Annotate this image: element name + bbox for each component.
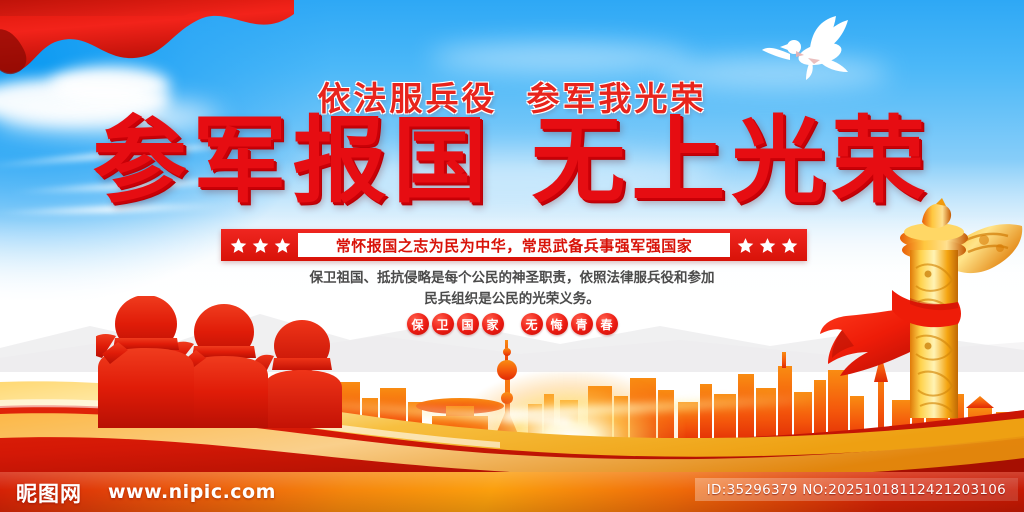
stars-left [230, 237, 291, 254]
star-icon [759, 237, 776, 254]
footer-id-text: ID:35296379 NO:20251018112421203106 [695, 478, 1018, 501]
star-icon [252, 237, 269, 254]
badge-spacer [507, 324, 518, 325]
slogan-text: 常怀报国之志为民为中华，常思武备兵事强军强国家 [298, 233, 730, 257]
paragraph-line-2: 民兵组织是公民的光荣义务。 [262, 289, 762, 310]
badge-item: 青 [571, 313, 593, 335]
star-icon [737, 237, 754, 254]
poster-canvas: 依法服兵役 参军我光荣 参军报国 无上光荣 常怀报国之志为民为中华，常思武备兵事… [0, 0, 1024, 512]
slogan-banner: 常怀报国之志为民为中华，常思武备兵事强军强国家 [221, 229, 807, 261]
footer-bar: 昵图网 www.nipic.com ID:35296379 NO:2025101… [0, 472, 1024, 512]
golden-huabiao-column-icon [892, 198, 1024, 418]
poster-paragraph: 保卫祖国、抵抗侵略是每个公民的神圣职责，依照法律服兵役和参加 民兵组织是公民的光… [262, 268, 762, 310]
paragraph-line-1: 保卫祖国、抵抗侵略是每个公民的神圣职责，依照法律服兵役和参加 [262, 268, 762, 289]
footer-url[interactable]: www.nipic.com [108, 481, 276, 503]
badge-item: 春 [596, 313, 618, 335]
badge-item: 国 [457, 313, 479, 335]
cloud-4 [430, 44, 690, 72]
star-icon [274, 237, 291, 254]
poster-main-title: 参军报国 无上光荣 [0, 114, 1024, 210]
stars-right [737, 237, 798, 254]
badge-item: 保 [407, 313, 429, 335]
badge-item: 悔 [546, 313, 568, 335]
star-icon [781, 237, 798, 254]
badge-row: 保 卫 国 家 无 悔 青 春 [0, 313, 1024, 335]
badge-item: 家 [482, 313, 504, 335]
badge-item: 卫 [432, 313, 454, 335]
star-icon [230, 237, 247, 254]
footer-logo: 昵图网 [16, 478, 82, 508]
badge-item: 无 [521, 313, 543, 335]
